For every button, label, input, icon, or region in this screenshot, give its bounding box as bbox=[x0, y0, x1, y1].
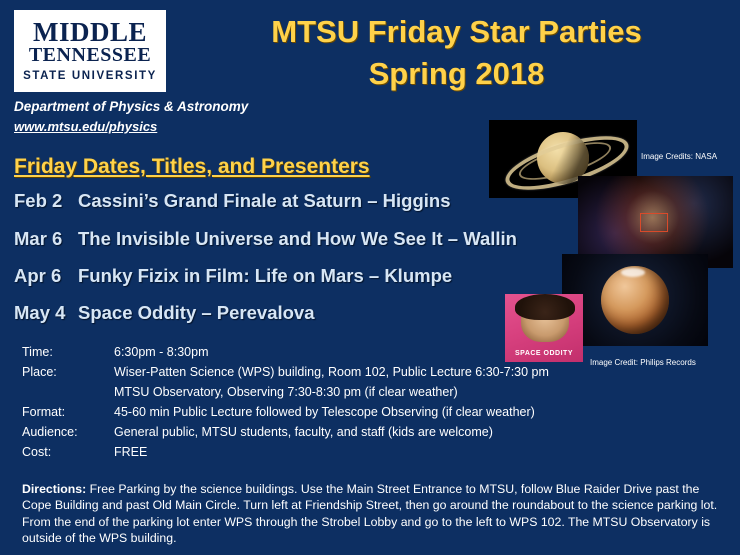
schedule-title-1: Cassini’s Grand Finale at Saturn – Higgi… bbox=[78, 190, 450, 211]
info-row-audience: Audience: General public, MTSU students,… bbox=[22, 425, 722, 445]
directions-label: Directions: bbox=[22, 482, 86, 496]
logo-line-tennessee: TENNESSEE bbox=[29, 45, 151, 66]
schedule-date-3: Apr 6 bbox=[14, 265, 78, 287]
mtsu-logo: MIDDLE TENNESSEE STATE UNIVERSITY bbox=[14, 10, 166, 92]
info-value-audience: General public, MTSU students, faculty, … bbox=[114, 425, 722, 439]
info-label-audience: Audience: bbox=[22, 425, 96, 439]
directions-text: Free Parking by the science buildings. U… bbox=[22, 482, 717, 545]
poster-title-line1: MTSU Friday Star Parties bbox=[184, 14, 729, 50]
image-credit-nasa: Image Credits: NASA bbox=[641, 152, 717, 161]
schedule-row-2: Mar 6The Invisible Universe and How We S… bbox=[14, 228, 517, 250]
schedule-title-3: Funky Fizix in Film: Life on Mars – Klum… bbox=[78, 265, 452, 286]
schedule-date-1: Feb 2 bbox=[14, 190, 78, 212]
info-label-cost: Cost: bbox=[22, 445, 96, 459]
info-value-place-secondary: MTSU Observatory, Observing 7:30-8:30 pm… bbox=[114, 385, 722, 399]
logo-line-middle: MIDDLE bbox=[33, 19, 147, 45]
info-value-cost: FREE bbox=[114, 445, 722, 459]
info-value-place: Wiser-Patten Science (WPS) building, Roo… bbox=[114, 365, 722, 379]
schedule-row-3: Apr 6Funky Fizix in Film: Life on Mars –… bbox=[14, 265, 452, 287]
info-label-place: Place: bbox=[22, 365, 96, 379]
schedule-date-4: May 4 bbox=[14, 302, 78, 324]
department-name: Department of Physics & Astronomy bbox=[14, 99, 248, 114]
poster-title-line2: Spring 2018 bbox=[184, 56, 729, 92]
nebula-marker-box-icon bbox=[640, 213, 668, 232]
department-website-link[interactable]: www.mtsu.edu/physics bbox=[14, 119, 157, 134]
schedule-title-4: Space Oddity – Perevalova bbox=[78, 302, 315, 323]
logo-line-state-university: STATE UNIVERSITY bbox=[23, 69, 157, 83]
schedule-row-4: May 4Space Oddity – Perevalova bbox=[14, 302, 315, 324]
mars-photo bbox=[562, 254, 708, 346]
schedule-date-2: Mar 6 bbox=[14, 228, 78, 250]
info-row-format: Format: 45-60 min Public Lecture followe… bbox=[22, 405, 722, 425]
schedule-heading: Friday Dates, Titles, and Presenters bbox=[14, 155, 370, 179]
schedule-row-1: Feb 2Cassini’s Grand Finale at Saturn – … bbox=[14, 190, 450, 212]
info-row-cost: Cost: FREE bbox=[22, 445, 722, 465]
info-label-format: Format: bbox=[22, 405, 96, 419]
directions-block: Directions: Free Parking by the science … bbox=[22, 481, 722, 547]
info-row-time: Time: 6:30pm - 8:30pm bbox=[22, 345, 722, 365]
info-row-place: Place: Wiser-Patten Science (WPS) buildi… bbox=[22, 365, 722, 385]
info-value-time: 6:30pm - 8:30pm bbox=[114, 345, 722, 359]
poster-root: MIDDLE TENNESSEE STATE UNIVERSITY Depart… bbox=[0, 0, 740, 555]
info-value-format: 45-60 min Public Lecture followed by Tel… bbox=[114, 405, 722, 419]
info-row-place-2: MTSU Observatory, Observing 7:30-8:30 pm… bbox=[22, 385, 722, 405]
info-block: Time: 6:30pm - 8:30pm Place: Wiser-Patte… bbox=[22, 345, 722, 465]
info-label-time: Time: bbox=[22, 345, 96, 359]
album-portrait-hair bbox=[515, 294, 575, 320]
schedule-title-2: The Invisible Universe and How We See It… bbox=[78, 228, 517, 249]
mars-polar-cap bbox=[621, 268, 645, 277]
